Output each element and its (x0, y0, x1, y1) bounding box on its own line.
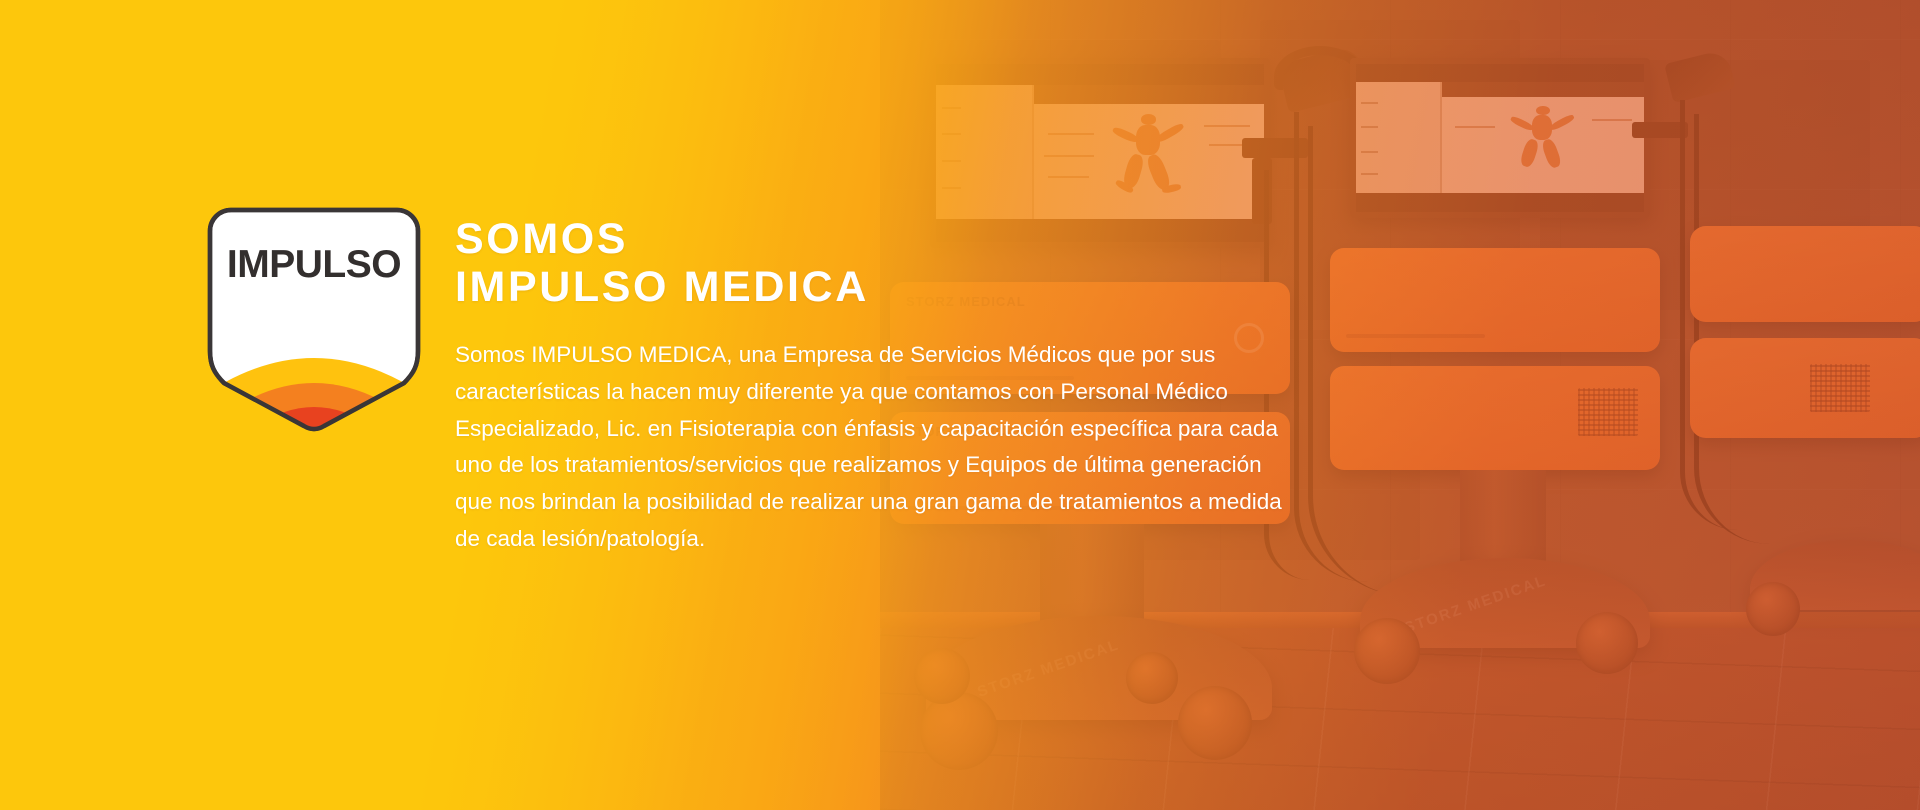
logo-wordmark: IMPULSO (205, 243, 423, 287)
paragraph-line: de cada lesión/patología. (455, 521, 1395, 558)
banner-text-column: SOMOS IMPULSO MEDICA Somos IMPULSO MEDIC… (455, 205, 1405, 557)
paragraph-line: características la hacen muy diferente y… (455, 374, 1395, 411)
hero-banner: STORZ MEDICAL STORZ MEDICAL STORZ MEDICA… (0, 0, 1920, 810)
paragraph-line: que nos brindan la posibilidad de realiz… (455, 484, 1395, 521)
banner-content: IMPULSO SOMOS IMPULSO MEDICA Somos IMPUL… (0, 0, 1920, 810)
paragraph-line: Especializado, Lic. en Fisioterapia con … (455, 411, 1395, 448)
shield-graphic (205, 205, 423, 433)
impulso-logo[interactable]: IMPULSO (205, 205, 423, 433)
paragraph-line: uno de los tratamientos/servicios que re… (455, 447, 1395, 484)
page-title: SOMOS IMPULSO MEDICA (455, 215, 1405, 311)
paragraph-line: Somos IMPULSO MEDICA, una Empresa de Ser… (455, 337, 1395, 374)
title-line-1: SOMOS (455, 215, 628, 263)
about-paragraph: Somos IMPULSO MEDICA, una Empresa de Ser… (455, 337, 1395, 557)
title-line-2: IMPULSO MEDICA (455, 263, 1405, 311)
logo-shield: IMPULSO (205, 205, 423, 433)
